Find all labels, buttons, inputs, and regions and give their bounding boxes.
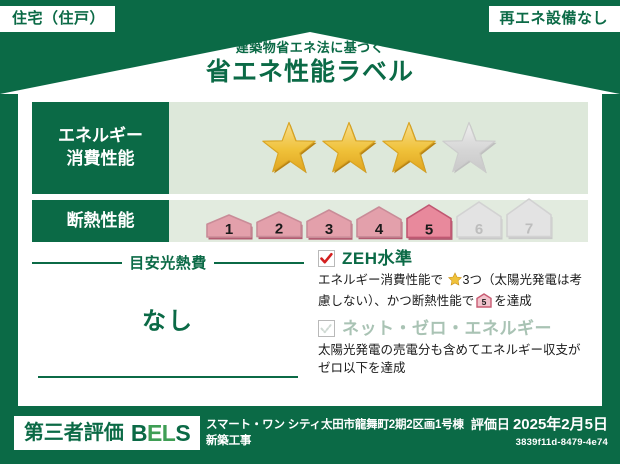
- footer: 第三者評価 BELS スマート・ワン シティ太田市龍舞町2期2区画1号棟 新築工…: [0, 410, 620, 464]
- claim-net-zero-header: ネット・ゼロ・エネルギー: [318, 320, 588, 337]
- net-zero-checkbox-unchecked-icon: [318, 320, 335, 337]
- evaluation-info: 評価日2025年2月5日 3839f11d-8479-4e74: [471, 417, 608, 448]
- bels-wordmark: BELS: [131, 422, 190, 445]
- renewable-equipment-badge: 再エネ設備なし: [489, 6, 620, 32]
- bels-letters-el: EL: [147, 420, 175, 446]
- claim-net-zero-description: 太陽光発電の売電分も含めてエネルギー収支がゼロ以下を達成: [318, 341, 588, 379]
- insulation-level-number: 3: [324, 221, 332, 238]
- star-filled-icon: [320, 119, 378, 177]
- insulation-level-7-empty: 7: [505, 197, 553, 241]
- evaluation-date-label: 評価日: [471, 417, 510, 432]
- insulation-level-3-filled: 3: [305, 208, 353, 241]
- column-divider: [304, 248, 318, 396]
- claim-zeh-description: エネルギー消費性能で 3つ（太陽光発電は考慮しない）、かつ断熱性能で 5 を達成: [318, 271, 588, 314]
- evaluation-date: 評価日2025年2月5日: [471, 417, 608, 434]
- insulation-level-2-filled: 2: [255, 210, 303, 241]
- inline-star-icon: [444, 275, 461, 289]
- bels-letter-s: S: [175, 420, 190, 446]
- claim-zeh: ZEH水準 エネルギー消費性能で 3つ（太陽光発電は考慮しない）、かつ断熱性能で…: [318, 250, 588, 314]
- star-rating: [260, 119, 498, 177]
- claim-zeh-header: ZEH水準: [318, 250, 588, 267]
- bottom-columns: 目安光熱費 なし ZEH水準: [32, 248, 588, 396]
- bels-logo: 第三者評価 BELS: [14, 416, 200, 450]
- evaluation-date-value: 2025年2月5日: [513, 416, 608, 433]
- insulation-level-4-filled: 4: [355, 205, 403, 241]
- insulation-level-scale: 1234567: [205, 201, 553, 241]
- utility-cost-value: なし: [32, 301, 304, 336]
- energy-performance-label-cell: エネルギー 消費性能: [32, 102, 169, 194]
- energy-performance-value-cell: [169, 102, 588, 194]
- utility-cost-header: 目安光熱費: [32, 252, 304, 273]
- label-body-panel: エネルギー 消費性能 断熱性能 1234567 目安光熱費: [18, 92, 602, 406]
- utility-cost-section: 目安光熱費 なし: [32, 248, 304, 396]
- utility-cost-bottom-rule: [38, 376, 298, 378]
- claim-zeh-title: ZEH水準: [342, 250, 413, 267]
- bels-letter-b: B: [131, 420, 147, 446]
- star-filled-icon: [260, 119, 318, 177]
- insulation-level-number: 5: [424, 221, 432, 238]
- svg-text:5: 5: [482, 297, 487, 307]
- insulation-performance-row: 断熱性能 1234567: [32, 200, 588, 242]
- rule-right: [214, 262, 304, 264]
- roof-shape: [0, 32, 620, 94]
- insulation-level-number: 6: [474, 221, 482, 238]
- energy-performance-label: 住宅（住戸） 再エネ設備なし 建築物省エネ法に基づく 省エネ性能ラベル エネルギ…: [0, 0, 620, 464]
- project-name: スマート・ワン シティ太田市龍舞町2期2区画1号棟 新築工事: [206, 418, 470, 449]
- insulation-level-6-empty: 6: [455, 200, 503, 241]
- claim-net-zero-energy: ネット・ゼロ・エネルギー 太陽光発電の売電分も含めてエネルギー収支がゼロ以下を達…: [318, 320, 588, 379]
- insulation-performance-label-cell: 断熱性能: [32, 200, 169, 242]
- claim-net-zero-title: ネット・ゼロ・エネルギー: [342, 320, 552, 337]
- star-filled-icon: [380, 119, 438, 177]
- energy-performance-row: エネルギー 消費性能: [32, 102, 588, 194]
- zeh-desc-end: を達成: [494, 294, 532, 308]
- claims-section: ZEH水準 エネルギー消費性能で 3つ（太陽光発電は考慮しない）、かつ断熱性能で…: [318, 248, 588, 396]
- insulation-label: 断熱性能: [67, 210, 135, 233]
- bels-third-party-label: 第三者評価: [24, 423, 124, 443]
- insulation-level-number: 7: [524, 221, 532, 238]
- energy-label-line1: エネルギー: [58, 125, 143, 148]
- insulation-level-5-filled: 5: [405, 203, 453, 241]
- insulation-level-number: 4: [374, 221, 383, 238]
- building-type-badge: 住宅（住戸）: [0, 6, 115, 32]
- zeh-checkbox-checked-icon: [318, 250, 335, 267]
- zeh-desc-before-star: エネルギー消費性能で: [318, 273, 443, 287]
- rule-left: [32, 262, 122, 264]
- insulation-level-number: 2: [274, 221, 282, 238]
- evaluation-id: 3839f11d-8479-4e74: [471, 437, 608, 448]
- insulation-level-1-filled: 1: [205, 213, 253, 241]
- star-empty-icon: [440, 119, 498, 177]
- energy-label-line2: 消費性能: [67, 148, 135, 171]
- insulation-performance-value-cell: 1234567: [169, 200, 588, 242]
- inline-level-badge-icon: 5: [476, 293, 492, 314]
- utility-cost-title: 目安光熱費: [129, 252, 207, 273]
- insulation-level-number: 1: [224, 221, 232, 238]
